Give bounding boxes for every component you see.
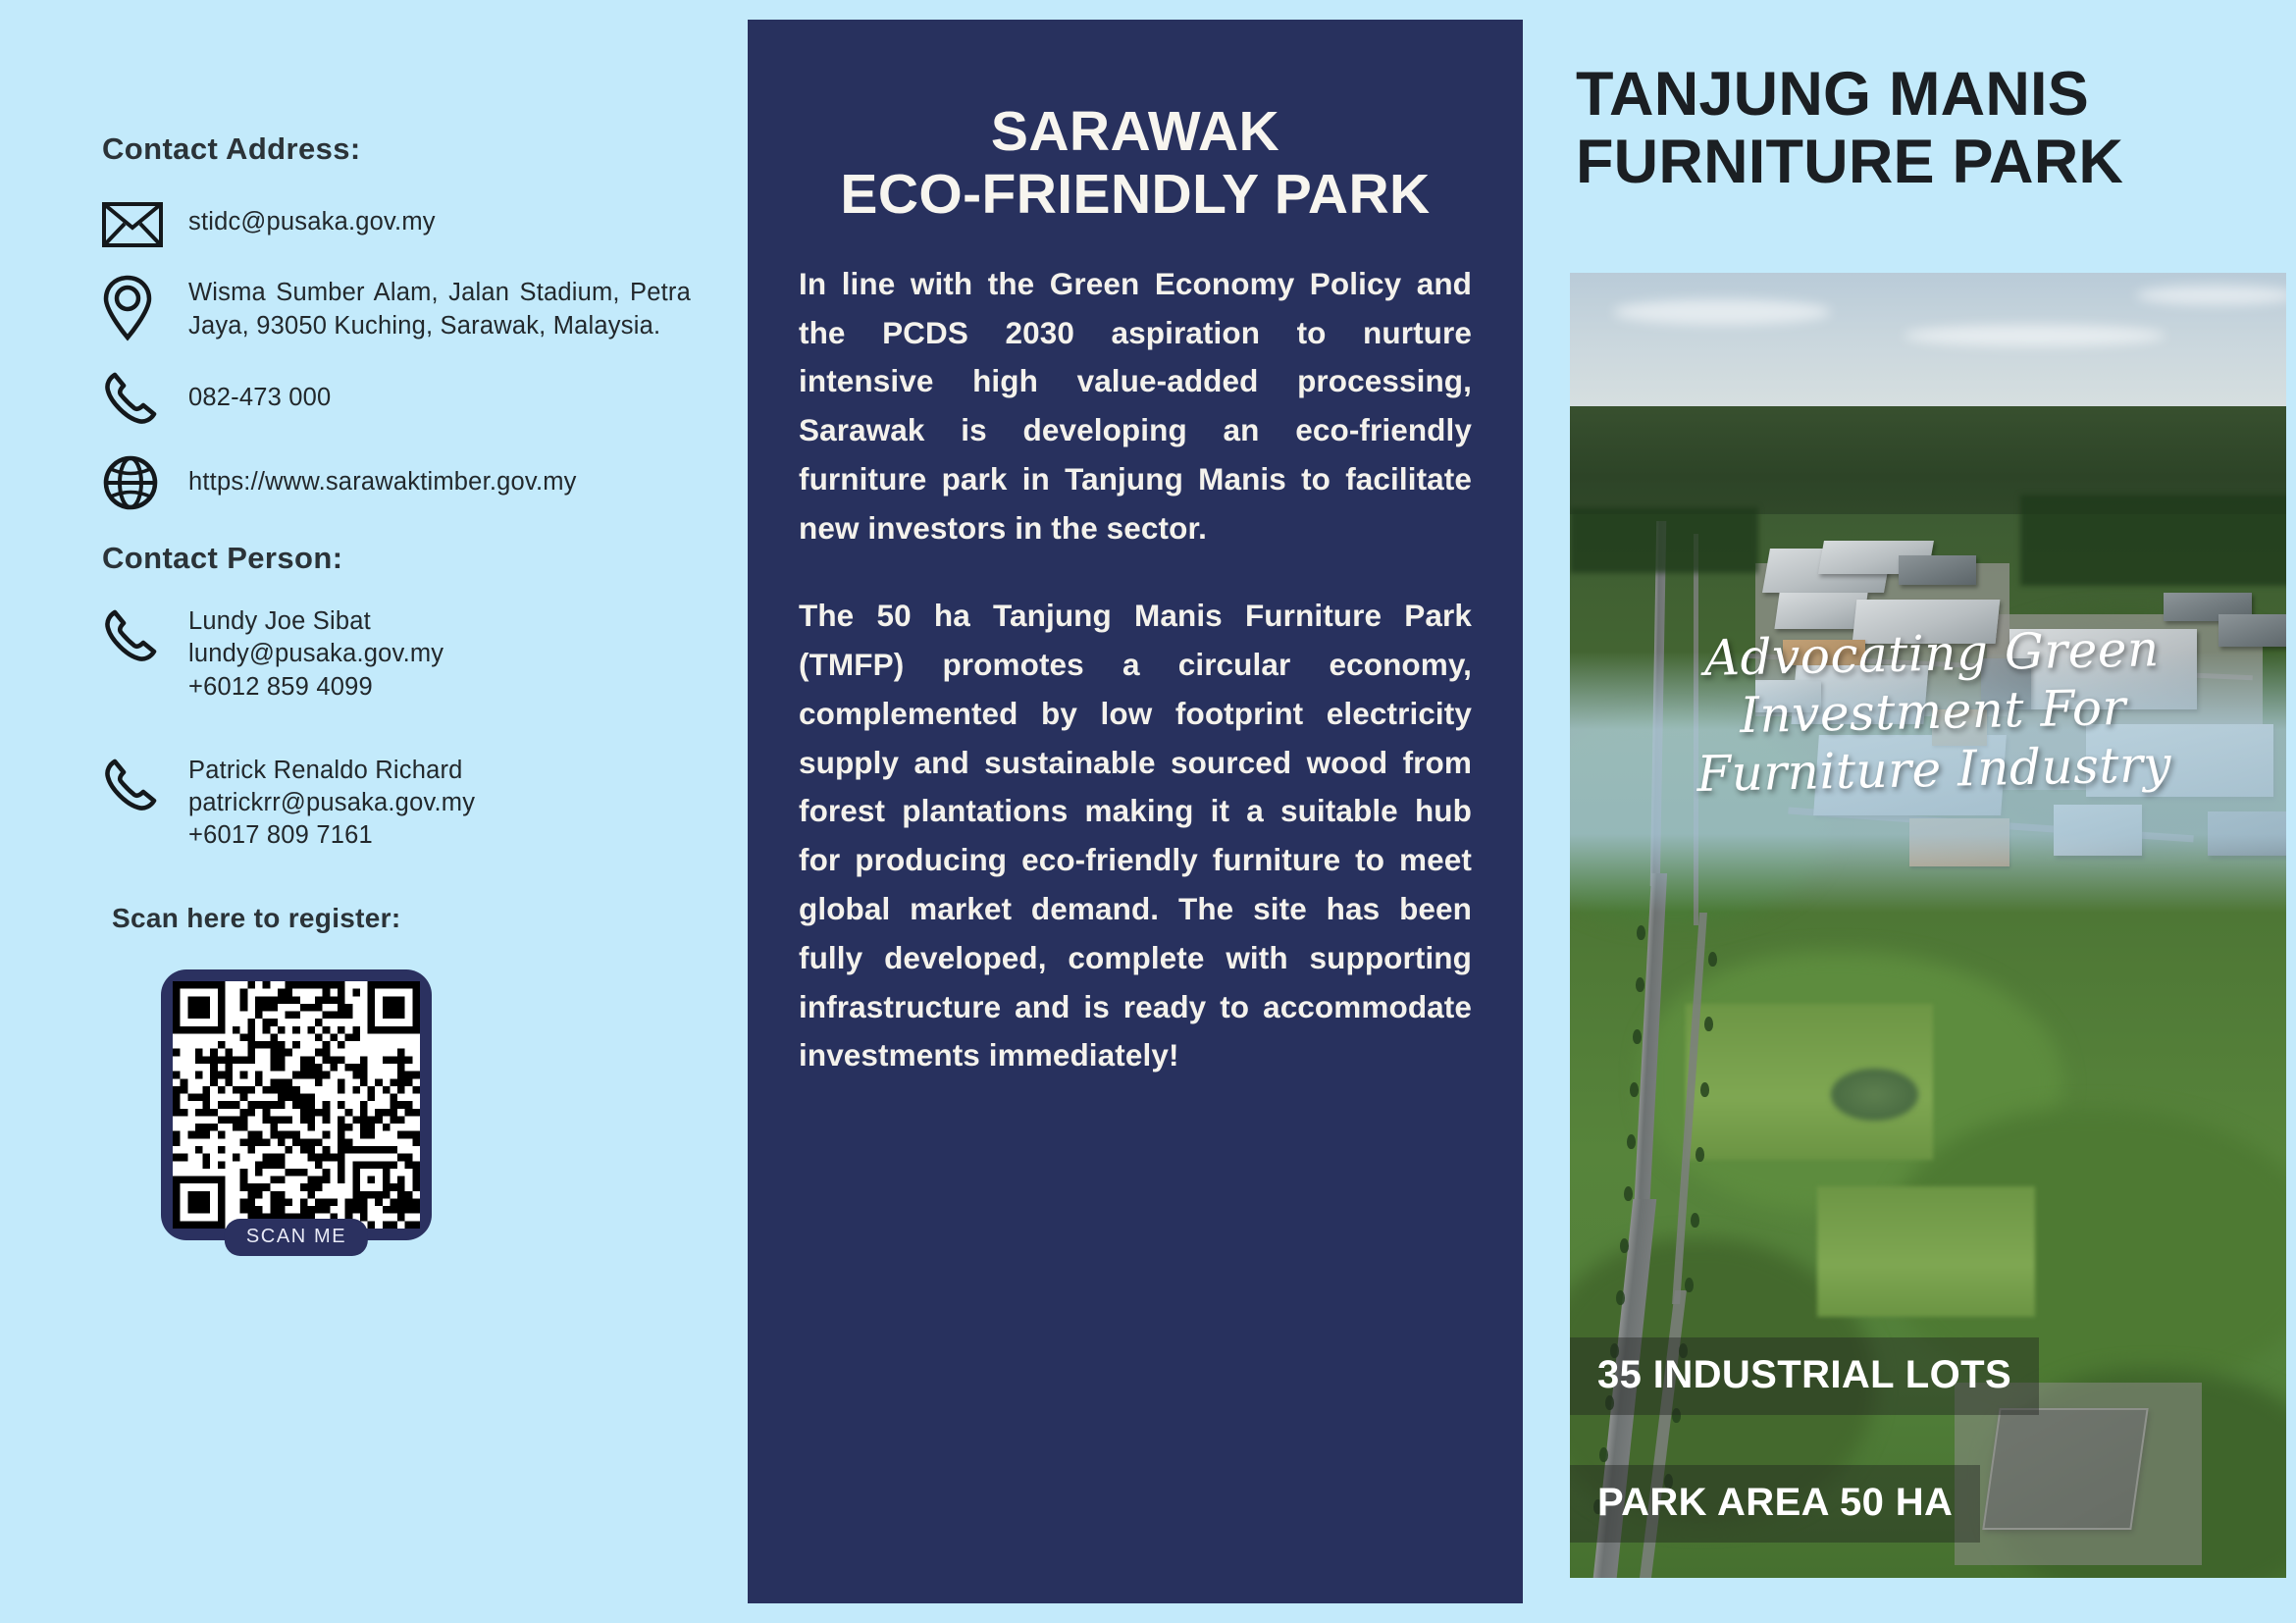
envelope-icon — [102, 200, 188, 247]
timber-yard — [1783, 640, 1865, 665]
truck-trailer — [1981, 658, 2031, 709]
email-value[interactable]: stidc@pusaka.gov.my — [188, 200, 691, 239]
right-title-line1: TANJUNG MANIS — [1576, 60, 2089, 129]
warehouse-building — [2086, 724, 2273, 797]
brochure-page: Contact Address: stidc@pusaka.gov.my — [0, 0, 2296, 1623]
address-value: Wisma Sumber Alam, Jalan Stadium, Petra … — [188, 273, 691, 342]
person-email[interactable]: lundy@pusaka.gov.my — [188, 638, 444, 670]
roadside-tree — [1637, 925, 1645, 940]
roadside-tree — [1704, 1017, 1713, 1031]
center-title-line2: ECO-FRIENDLY PARK — [799, 163, 1472, 226]
roadside-tree — [1624, 1186, 1633, 1201]
center-paragraph-1: In line with the Green Economy Policy an… — [799, 260, 1472, 553]
roadside-tree — [1691, 1213, 1699, 1228]
phone-icon — [102, 368, 188, 427]
globe-icon — [102, 452, 188, 511]
phone-icon — [102, 605, 188, 664]
warehouse-building — [2009, 629, 2197, 709]
qr-canvas — [173, 981, 420, 1229]
qr-inner — [173, 981, 420, 1229]
right-title-line2: FURNITURE PARK — [1576, 129, 2263, 196]
roadside-tree — [1685, 1278, 1694, 1292]
cloud — [1613, 299, 1831, 325]
roadside-tree — [1616, 1290, 1625, 1305]
contact-item-address: Wisma Sumber Alam, Jalan Stadium, Petra … — [102, 273, 691, 342]
roadside-tree — [1700, 1082, 1709, 1097]
person-name: Patrick Renaldo Richard — [188, 755, 475, 787]
center-panel: SARAWAK ECO-FRIENDLY PARK In line with t… — [748, 0, 1533, 1623]
contact-person-heading: Contact Person: — [102, 541, 691, 576]
center-title: SARAWAK ECO-FRIENDLY PARK — [799, 100, 1472, 227]
scan-heading: Scan here to register: — [112, 903, 691, 934]
person-phone[interactable]: +6012 859 4099 — [188, 671, 444, 704]
contact-item-website: https://www.sarawaktimber.gov.my — [102, 452, 691, 511]
center-paragraph-2: The 50 ha Tanjung Manis Furniture Park (… — [799, 592, 1472, 1080]
qr-frame — [161, 969, 432, 1240]
contact-panel: Contact Address: stidc@pusaka.gov.my — [0, 0, 748, 1623]
phone-value[interactable]: 082-473 000 — [188, 368, 691, 415]
website-value[interactable]: https://www.sarawaktimber.gov.my — [188, 452, 691, 499]
clearing — [1817, 1186, 2035, 1317]
roadside-tree — [1620, 1238, 1629, 1253]
timber-yard — [1909, 818, 2009, 865]
stat-park-area: PARK AREA 50 HA — [1570, 1465, 1980, 1543]
scan-me-badge: SCAN ME — [225, 1219, 368, 1256]
center-title-line1: SARAWAK — [991, 100, 1279, 163]
factory-building — [2208, 811, 2296, 856]
factory-building — [1813, 735, 2007, 815]
contact-item-phone: 082-473 000 — [102, 368, 691, 427]
person-email[interactable]: patrickrr@pusaka.gov.my — [188, 787, 475, 819]
right-edge-strip — [2286, 0, 2296, 1623]
treeline — [1570, 507, 1758, 573]
factory-building — [1899, 555, 1976, 585]
contact-person-2: Patrick Renaldo Richard patrickrr@pusaka… — [102, 755, 691, 852]
person-phone[interactable]: +6017 809 7161 — [188, 819, 475, 852]
contact-content: Contact Address: stidc@pusaka.gov.my — [102, 131, 691, 1240]
phone-icon — [102, 755, 188, 813]
factory-building — [1755, 680, 1821, 713]
service-road — [1694, 534, 1698, 925]
timber-yard — [1932, 709, 1987, 746]
roadside-tree — [1636, 977, 1644, 992]
person-details: Lundy Joe Sibat lundy@pusaka.gov.my +601… — [188, 605, 444, 703]
industrial-estate — [1745, 534, 2296, 899]
treeline — [2020, 495, 2296, 586]
contact-item-email: stidc@pusaka.gov.my — [102, 200, 691, 247]
factory-building — [2218, 614, 2296, 648]
contact-address-heading: Contact Address: — [102, 131, 691, 167]
photo-panel: TANJUNG MANIS FURNITURE PARK — [1533, 0, 2296, 1623]
right-title: TANJUNG MANIS FURNITURE PARK — [1576, 61, 2263, 197]
roadside-tree — [1708, 952, 1717, 967]
location-pin-icon — [102, 273, 188, 341]
factory-building — [1852, 600, 2001, 644]
qr-code[interactable]: SCAN ME — [161, 969, 432, 1240]
stat-industrial-lots: 35 INDUSTRIAL LOTS — [1570, 1337, 2039, 1415]
aerial-photo: Advocating Green Investment For Furnitur… — [1570, 273, 2296, 1578]
eco-park-card: SARAWAK ECO-FRIENDLY PARK In line with t… — [748, 20, 1523, 1603]
contact-person-1: Lundy Joe Sibat lundy@pusaka.gov.my +601… — [102, 605, 691, 703]
person-name: Lundy Joe Sibat — [188, 605, 444, 638]
person-details: Patrick Renaldo Richard patrickrr@pusaka… — [188, 755, 475, 852]
roadside-tree — [1696, 1147, 1704, 1162]
office-building — [2054, 805, 2142, 856]
